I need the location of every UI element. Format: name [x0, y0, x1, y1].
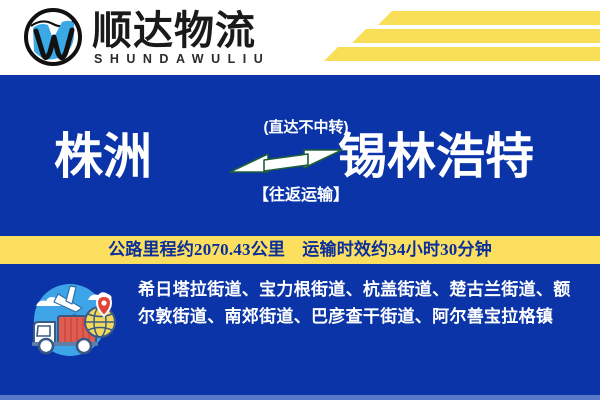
- stripe-3: [324, 47, 600, 61]
- origin-city: 株洲: [54, 129, 152, 185]
- brand-text-block: 顺达物流 SHUNDAWULIU: [92, 8, 270, 66]
- round-trip-note: 【往返运输】: [236, 186, 366, 205]
- brand-logo-block: 顺达物流 SHUNDAWULIU: [22, 6, 270, 68]
- brand-name-cn: 顺达物流: [92, 10, 270, 52]
- logistics-truck-globe-plane-icon: [18, 278, 122, 362]
- service-areas-section: 希日塔拉街道、宝力根街道、杭盖街道、楚古兰街道、额尔敦街道、南郊街道、巴彦查干街…: [0, 272, 600, 382]
- stripe-2: [352, 29, 600, 43]
- double-headed-arrow-icon: [228, 144, 344, 178]
- poster-header: 顺达物流 SHUNDAWULIU: [0, 0, 600, 75]
- distance-duration-text: 公路里程约2070.43公里 运输时效约34小时30分钟: [108, 240, 492, 260]
- circle-w-logo-icon: [22, 6, 84, 68]
- header-stripes-decoration: [320, 0, 600, 75]
- bottom-edge-strip: [0, 395, 600, 400]
- stripe-1: [378, 11, 600, 25]
- brand-name-en: SHUNDAWULIU: [92, 52, 270, 66]
- service-areas-text: 希日塔拉街道、宝力根街道、杭盖街道、楚古兰街道、额尔敦街道、南郊街道、巴彦查干街…: [138, 276, 586, 330]
- logistics-route-poster: 顺达物流 SHUNDAWULIU 株洲 (直达不中转) 【往返运输】 锡林浩特 …: [0, 0, 600, 400]
- distance-duration-band: 公路里程约2070.43公里 运输时效约34小时30分钟: [0, 236, 600, 264]
- destination-city: 锡林浩特: [338, 129, 534, 185]
- route-section: 株洲 (直达不中转) 【往返运输】 锡林浩特: [0, 104, 600, 214]
